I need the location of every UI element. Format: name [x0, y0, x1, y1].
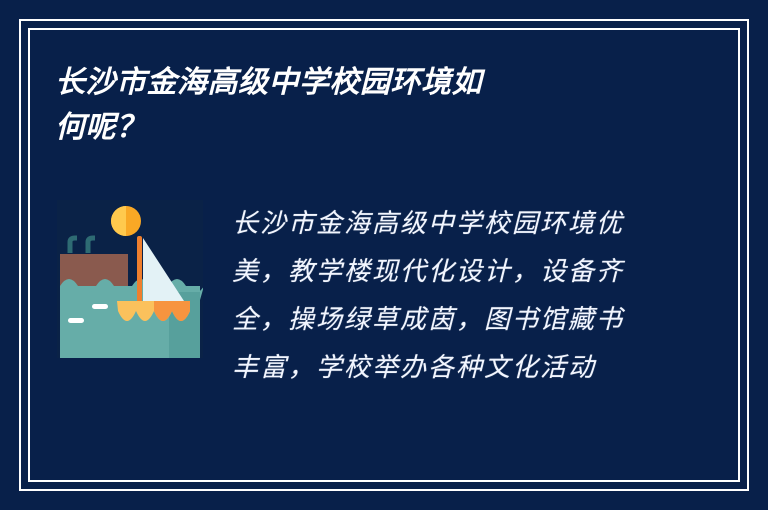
- sailboat-harbor-illustration: [57, 200, 203, 358]
- page-title: 长沙市金海高级中学校园环境如 何呢？: [55, 60, 395, 150]
- boat-mast: [137, 236, 142, 310]
- body-copy: 长沙市金海高级中学校园环境优 美，教学楼现代化设计，设备齐 全，操场绿草成茵，图…: [232, 200, 660, 392]
- body-line-3: 全，操场绿草成茵，图书馆藏书: [232, 296, 660, 344]
- sun-icon: [111, 206, 141, 236]
- body-line-1: 长沙市金海高级中学校园环境优: [232, 200, 660, 248]
- title-line-1: 长沙市金海高级中学校园环境如: [55, 60, 395, 105]
- body-line-2: 美，教学楼现代化设计，设备齐: [232, 248, 660, 296]
- poster-canvas: 长沙市金海高级中学校园环境如 何呢？: [0, 0, 768, 510]
- body-line-4: 丰富，学校举办各种文化活动: [232, 344, 660, 392]
- title-line-2: 何呢？: [55, 105, 395, 150]
